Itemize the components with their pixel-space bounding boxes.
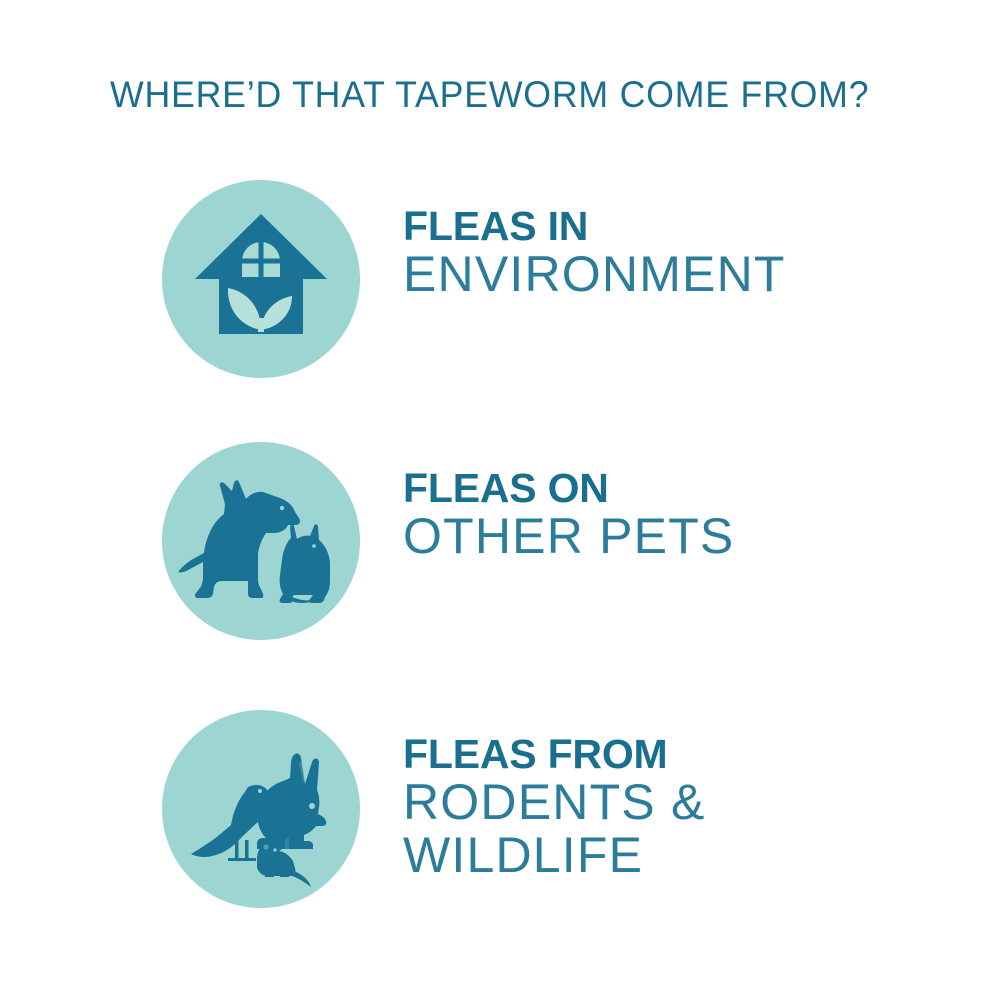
page-title: WHERE’D THAT TAPEWORM COME FROM? [110, 74, 901, 116]
info-row-other-pets: FLEAS ON OTHER PETS [0, 442, 1000, 642]
label-light-line: RODENTS & [403, 776, 963, 829]
label-light-other-pets: OTHER PETS [403, 510, 963, 563]
info-row-environment: FLEAS IN ENVIRONMENT [0, 180, 1000, 380]
label-light-rodents-wildlife: RODENTS & WILDLIFE [403, 776, 963, 882]
infographic-canvas: WHERE’D THAT TAPEWORM COME FROM? [0, 0, 1000, 1000]
label-strong-environment: FLEAS IN [403, 204, 963, 248]
icon-circle-environment [162, 180, 360, 378]
label-block-rodents-wildlife: FLEAS FROM RODENTS & WILDLIFE [403, 732, 963, 882]
label-light-line: ENVIRONMENT [403, 248, 963, 301]
label-strong-other-pets: FLEAS ON [403, 466, 963, 510]
icon-circle-other-pets [162, 442, 360, 640]
label-light-line: WILDLIFE [403, 829, 963, 882]
label-block-other-pets: FLEAS ON OTHER PETS [403, 466, 963, 563]
label-light-line: OTHER PETS [403, 510, 963, 563]
icon-circle-rodents-wildlife [162, 710, 360, 908]
info-row-rodents-wildlife: FLEAS FROM RODENTS & WILDLIFE [0, 710, 1000, 910]
label-strong-rodents-wildlife: FLEAS FROM [403, 732, 963, 776]
label-block-environment: FLEAS IN ENVIRONMENT [403, 204, 963, 301]
house-with-leaves-icon [162, 180, 360, 378]
dog-and-cat-icon [162, 442, 360, 640]
bird-rabbit-mouse-icon [162, 710, 360, 908]
label-light-environment: ENVIRONMENT [403, 248, 963, 301]
